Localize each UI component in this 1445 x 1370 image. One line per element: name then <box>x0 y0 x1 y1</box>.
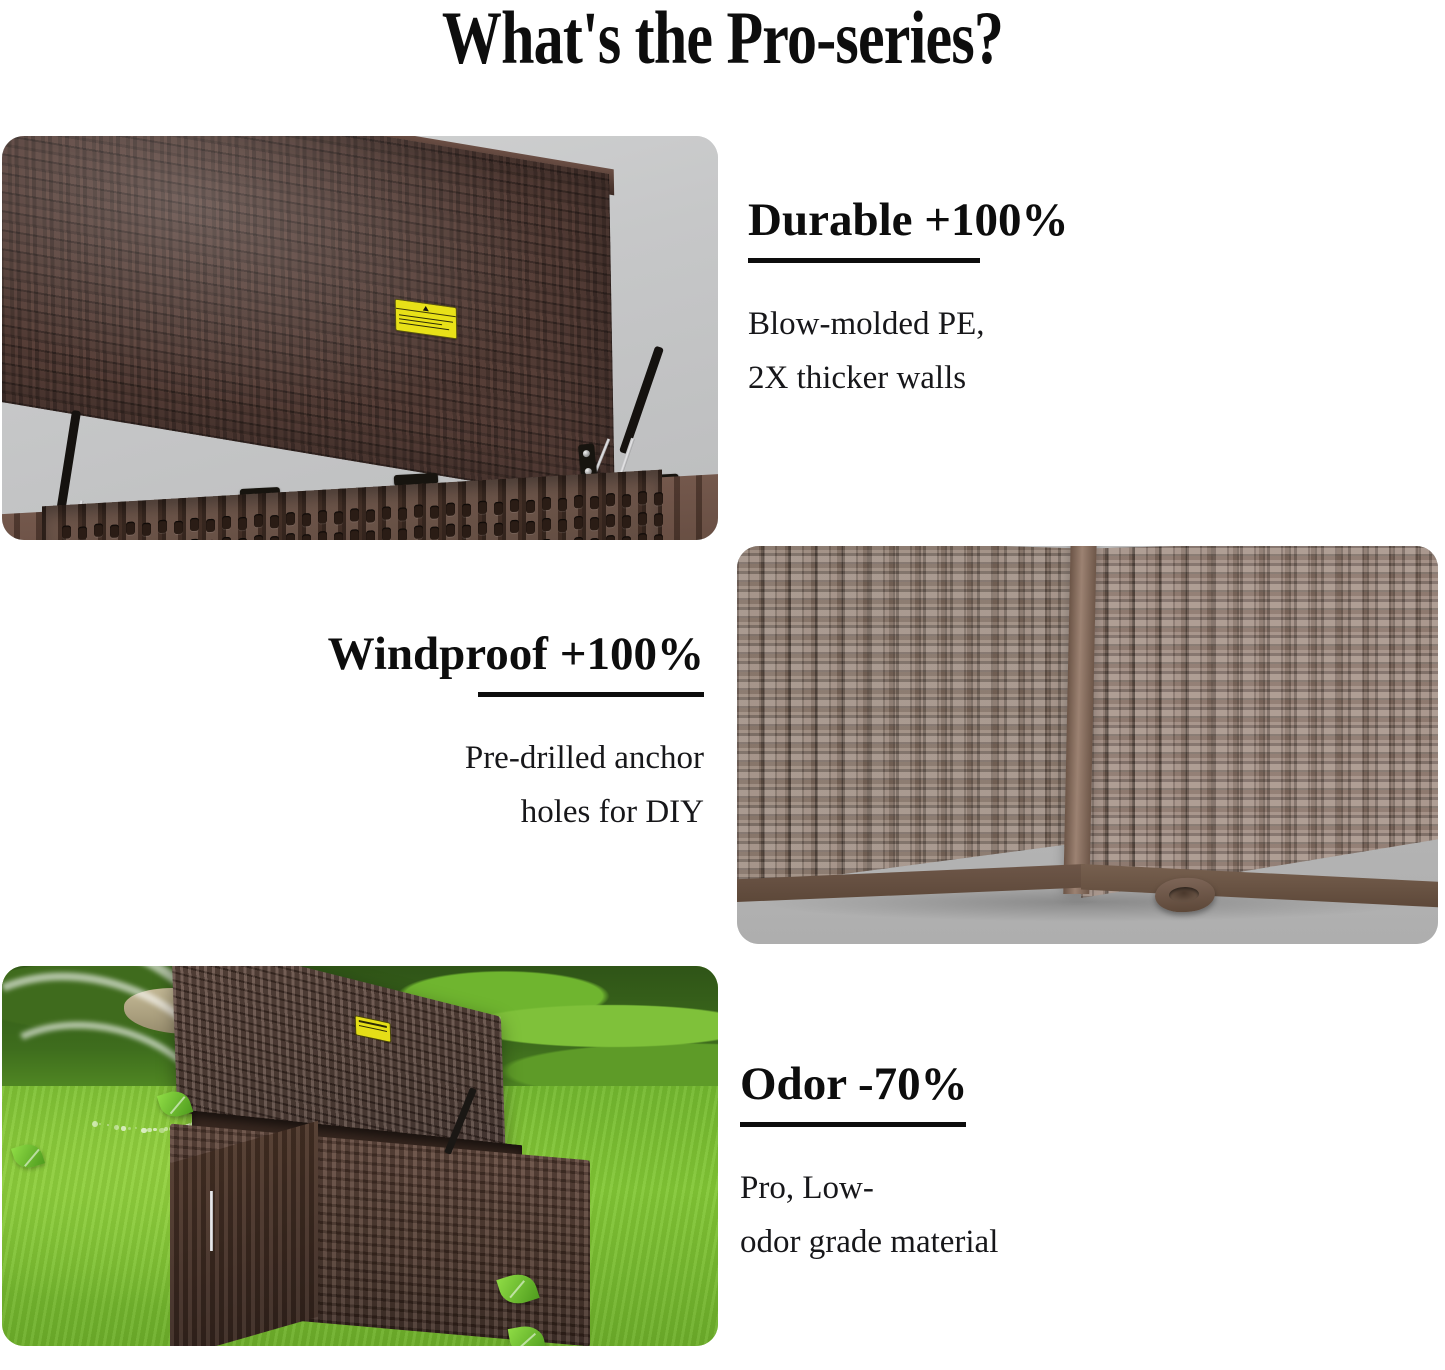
vent-slot <box>190 518 199 532</box>
vent-slot <box>558 498 567 512</box>
vent-slot <box>430 505 439 519</box>
product-image-garden-scene <box>2 966 718 1346</box>
airflow-particle <box>92 1121 98 1127</box>
feature-durable: Durable +100% Blow-molded PE, 2X thicker… <box>748 192 1308 405</box>
vent-slot <box>606 493 615 507</box>
vent-slot <box>622 515 631 529</box>
vent-slot <box>110 524 119 538</box>
vent-slot <box>302 513 311 527</box>
vent-slot <box>622 536 631 540</box>
infographic-page: What's the Pro-series? <box>0 0 1445 1370</box>
vent-slot <box>398 528 407 540</box>
vent-slot <box>286 512 295 526</box>
vent-slot <box>510 520 519 534</box>
feature-durable-underline <box>748 258 980 263</box>
vent-slot <box>222 516 231 530</box>
wicker-face-right <box>1081 546 1438 898</box>
weave-texture-overlay <box>737 546 1082 888</box>
page-title: What's the Pro-series? <box>145 0 1301 82</box>
warning-triangle-icon <box>423 305 429 311</box>
feature-odor-heading: Odor -70% <box>740 1056 1300 1112</box>
feature-windproof-body-line2: holes for DIY <box>184 785 704 839</box>
feature-durable-heading: Durable +100% <box>748 192 1308 248</box>
vent-slot <box>414 525 423 539</box>
airflow-particle <box>141 1128 147 1134</box>
vent-slot <box>654 534 663 540</box>
vent-slot <box>94 523 103 537</box>
vent-slot <box>494 523 503 537</box>
vent-slot <box>606 514 615 528</box>
vent-slot <box>590 538 599 540</box>
feature-windproof: Windproof +100% Pre-drilled anchor holes… <box>184 626 704 839</box>
vent-slot <box>526 521 535 535</box>
feature-durable-body-line2: 2X thicker walls <box>748 351 1308 405</box>
vent-slot <box>542 497 551 511</box>
airflow-particle <box>164 1127 168 1131</box>
vent-slot <box>270 515 279 529</box>
vent-slot <box>286 533 295 540</box>
vent-slot <box>462 525 471 539</box>
vent-slot <box>222 537 231 540</box>
vent-slot <box>414 504 423 518</box>
vent-slot <box>62 525 71 539</box>
vent-slot <box>206 519 215 533</box>
vent-slot <box>254 514 263 528</box>
vent-slot <box>254 535 263 540</box>
vent-slot <box>366 509 375 523</box>
vent-slot <box>446 523 455 537</box>
airflow-particle <box>128 1127 131 1130</box>
hinge-screw <box>583 450 591 458</box>
vent-slot <box>334 532 343 540</box>
product-image-corner-detail <box>737 546 1438 944</box>
vent-slot <box>462 504 471 518</box>
vent-slot <box>302 534 311 540</box>
feature-odor-underline <box>740 1122 966 1127</box>
vent-slot <box>350 529 359 540</box>
vent-slot <box>638 533 647 540</box>
vent-slot <box>494 502 503 516</box>
airflow-particle <box>121 1126 126 1131</box>
pre-drilled-anchor-hole <box>1169 886 1200 903</box>
airflow-particle <box>114 1125 119 1130</box>
vent-slot <box>174 521 183 535</box>
vent-slot <box>382 506 391 520</box>
weave-texture-overlay <box>1081 546 1438 898</box>
vent-slot <box>190 539 199 540</box>
vent-slot <box>654 492 663 506</box>
vent-slot <box>126 521 135 535</box>
vent-slot <box>382 527 391 540</box>
vent-slot <box>590 517 599 531</box>
vent-slot <box>606 535 615 540</box>
vent-slot <box>574 537 583 540</box>
vent-slot <box>334 511 343 525</box>
vent-slot <box>526 500 535 514</box>
feature-durable-body: Blow-molded PE, 2X thicker walls <box>748 297 1308 405</box>
vent-slot <box>622 494 631 508</box>
vent-slot <box>270 536 279 540</box>
vent-slot <box>318 510 327 524</box>
vent-slot <box>142 523 151 537</box>
vent-slot <box>398 507 407 521</box>
feature-odor: Odor -70% Pro, Low- odor grade material <box>740 1056 1300 1269</box>
vent-slot <box>590 496 599 510</box>
feature-odor-body-line1: Pro, Low- <box>740 1161 1300 1215</box>
vent-slot <box>366 530 375 540</box>
vent-slot <box>318 531 327 540</box>
vent-slot <box>574 516 583 530</box>
vent-slot <box>446 502 455 516</box>
vent-slot <box>158 520 167 534</box>
feature-odor-body-line2: odor grade material <box>740 1215 1300 1269</box>
garden-strut-rod <box>210 1191 213 1251</box>
feature-windproof-body-line1: Pre-drilled anchor <box>184 731 704 785</box>
vent-slot <box>350 508 359 522</box>
feature-durable-body-line1: Blow-molded PE, <box>748 297 1308 351</box>
vent-slot <box>430 526 439 540</box>
airflow-particle <box>107 1124 109 1126</box>
vent-slot <box>574 495 583 509</box>
feature-odor-body: Pro, Low- odor grade material <box>740 1161 1300 1269</box>
vent-slot <box>238 538 247 540</box>
vent-slot <box>478 522 487 536</box>
vent-slot <box>510 499 519 513</box>
vent-slot <box>542 539 551 540</box>
vent-slot <box>238 517 247 531</box>
vent-slot <box>654 513 663 527</box>
product-image-open-box <box>2 136 718 540</box>
vent-slot <box>638 512 647 526</box>
vent-slot <box>638 491 647 505</box>
feature-windproof-heading: Windproof +100% <box>184 626 704 682</box>
wicker-face-left <box>737 546 1082 888</box>
vent-slot <box>558 519 567 533</box>
feature-windproof-body: Pre-drilled anchor holes for DIY <box>184 731 704 839</box>
vent-slot <box>478 501 487 515</box>
vent-slot <box>78 526 87 540</box>
vent-slot <box>542 518 551 532</box>
feature-windproof-underline <box>478 692 704 697</box>
